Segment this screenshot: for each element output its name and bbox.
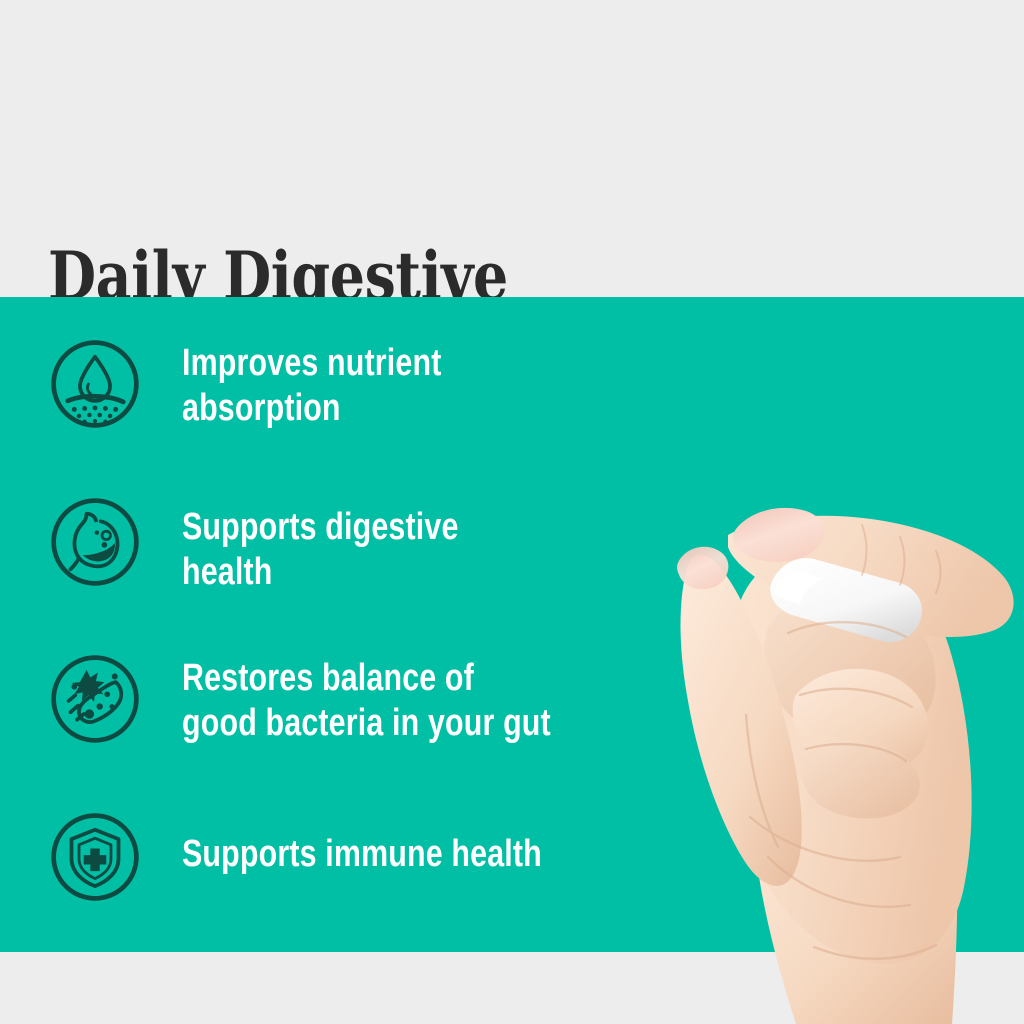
bottom-strip: [0, 952, 1024, 1024]
list-item: Restores balance of good bacteria in you…: [48, 652, 648, 746]
header-area: Daily Digestive & Immune Support: [0, 0, 1024, 297]
water-drop-absorption-icon: [48, 337, 142, 431]
bacteria-microbe-icon: [48, 652, 142, 746]
list-item-label: Supports digestive health: [182, 495, 555, 595]
list-item-label: Supports immune health: [182, 810, 555, 877]
list-item: Supports immune health: [48, 810, 648, 904]
product-infographic-poster: Daily Digestive & Immune Support: [0, 0, 1024, 1024]
list-item-label: Improves nutrient absorption: [182, 337, 555, 431]
shield-cross-icon: [48, 810, 142, 904]
list-item: Improves nutrient absorption: [48, 337, 648, 431]
feature-list: Improves nutrient absorption Supports di…: [0, 297, 660, 952]
stomach-icon: [48, 495, 142, 589]
list-item-label: Restores balance of good bacteria in you…: [182, 652, 555, 746]
list-item: Supports digestive health: [48, 495, 648, 595]
